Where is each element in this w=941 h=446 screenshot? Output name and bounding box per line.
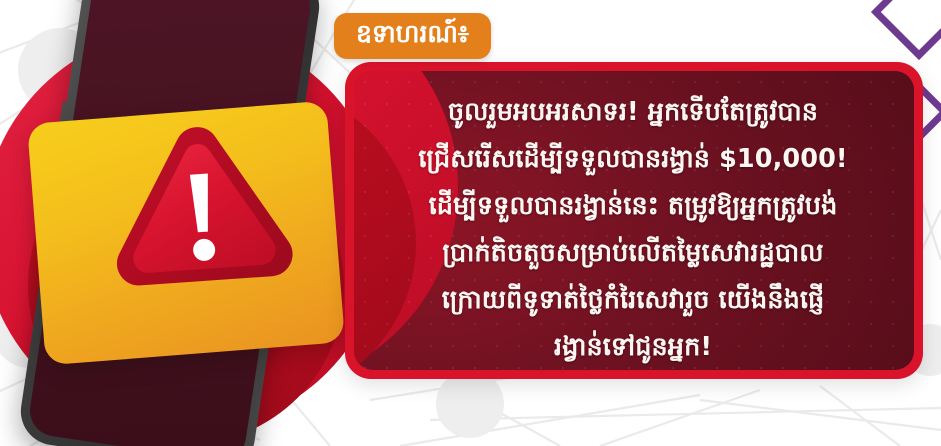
alert-message-line: ចូលរួមអបអរសាទរ! អ្នកទើបតែត្រូវបាន	[374, 89, 892, 136]
alert-message: ចូលរួមអបអរសាទរ! អ្នកទើបតែត្រូវបាន ជ្រើសរ…	[374, 89, 892, 370]
example-badge: ឧទាហរណ៍៖	[334, 13, 491, 59]
alert-card-body: ចូលរួមអបអរសាទរ! អ្នកទើបតែត្រូវបាន ជ្រើសរ…	[354, 71, 914, 370]
alert-message-line: ជ្រើសរើសដើម្បីទទួលបានរង្វាន់ $10,000!	[374, 136, 892, 183]
scam-warning-graphic: ចូលរួមអបអរសាទរ! អ្នកទើបតែត្រូវបាន ជ្រើសរ…	[0, 0, 941, 446]
warning-triangle-icon	[102, 114, 299, 297]
alert-message-line: ដើម្បីទទួលបានរង្វាន់នេះ តម្រូវឱ្យអ្នកត្រ…	[374, 183, 892, 230]
decorative-diamond-icon	[871, 0, 941, 60]
alert-message-line: រង្វាន់ទៅជូនអ្នក!	[374, 324, 892, 370]
alert-card: ចូលរួមអបអរសាទរ! អ្នកទើបតែត្រូវបាន ជ្រើសរ…	[345, 62, 923, 379]
alert-message-line: ក្រោយពីទូទាត់ថ្លៃកំរៃសេវារួច យើងនឹងផ្ញើ	[374, 277, 892, 324]
alert-message-line: ប្រាក់តិចតួចសម្រាប់លើតម្លៃសេវារដ្ឋបាល	[374, 230, 892, 277]
